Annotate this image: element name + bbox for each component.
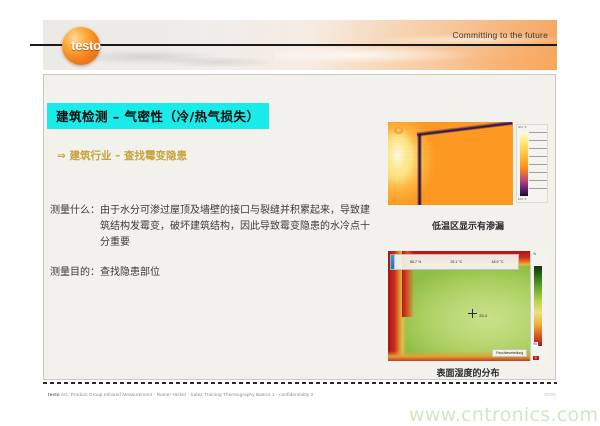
body-row-purpose: 测量目的： 查找隐患部位 [50,265,370,281]
slide-title: 建筑检测 – 气密性（冷/热气损失） [47,103,269,129]
site-watermark: www.cntronics.com [409,404,598,426]
body-label-what: 测量什么： [50,203,100,219]
body-value-purpose: 查找隐患部位 [100,265,370,281]
colorbar-1-top-label: 30.0 °C [518,126,527,129]
presentation-slide: testo Committing to the future 建筑检测 – 气密… [0,0,600,424]
humidity-readout-air-temp: 25.1 °C [450,260,462,264]
footer-text: testo AG, Product Group Infrared Measure… [48,392,313,397]
figure-caption-1: 低温区显示有渗漏 [388,219,548,232]
body-label-purpose: 测量目的： [50,265,100,281]
surface-humidity-image: 66.7 % 25.1 °C 18.9 °C 23.4 Feuchteverte… [388,251,548,361]
header-tagline: Committing to the future [452,30,548,40]
footer-page-number: 07/21 [545,392,557,397]
colorbar-1-ticks [529,132,547,196]
colorbar-2-bottom-label: 0 [533,356,539,360]
infrared-sensor-noise [388,122,513,205]
footer-details: AG, Product Group Infrared Measurement ·… [61,392,314,397]
humidity-readout-rh: 66.7 % [410,260,421,264]
colorbar-2-gradient [534,266,542,345]
humidity-readout-bar: 66.7 % 25.1 °C 18.9 °C [394,254,519,269]
slide-subtitle: ⇒ 建筑行业 – 查找霉变隐患 [57,148,187,163]
testo-logo-text: testo [60,38,112,54]
footer-company: testo [48,392,60,397]
colorbar-2-mid-label: 95 [532,342,538,346]
body-value-what: 由于水分可渗过屋顶及墙壁的接口与裂缝并积累起来，导致建筑结构发霉变，破坏建筑结构… [100,203,370,251]
humidity-spot-crosshair-icon [468,309,477,318]
slide-body-text: 测量什么： 由于水分可渗过屋顶及墙壁的接口与裂缝并积累起来，导致建筑结构发霉变，… [50,203,370,281]
humidity-spot-value: 23.4 [479,313,487,318]
humidity-legend-tag: Feuchteverteilung [492,349,527,357]
header-smoke-texture [94,44,300,70]
humidity-colorbar-2: % 95 0 [530,251,548,361]
footer-dashed-divider [43,382,557,384]
infrared-colorbar-1: 30.0 °C 12.0 °C [516,124,548,203]
infrared-corner-image [388,122,513,205]
colorbar-2-top-label: % [533,252,536,256]
body-row-what: 测量什么： 由于水分可渗过屋顶及墙壁的接口与裂缝并积累起来，导致建筑结构发霉变，… [50,203,370,251]
humidity-readout-dew-point: 18.9 °C [492,260,504,264]
body-spacer [50,251,370,265]
figure-caption-2: 表面湿度的分布 [388,366,548,379]
colorbar-1-bottom-label: 12.0 °C [518,198,527,201]
colorbar-1-gradient [520,132,528,196]
